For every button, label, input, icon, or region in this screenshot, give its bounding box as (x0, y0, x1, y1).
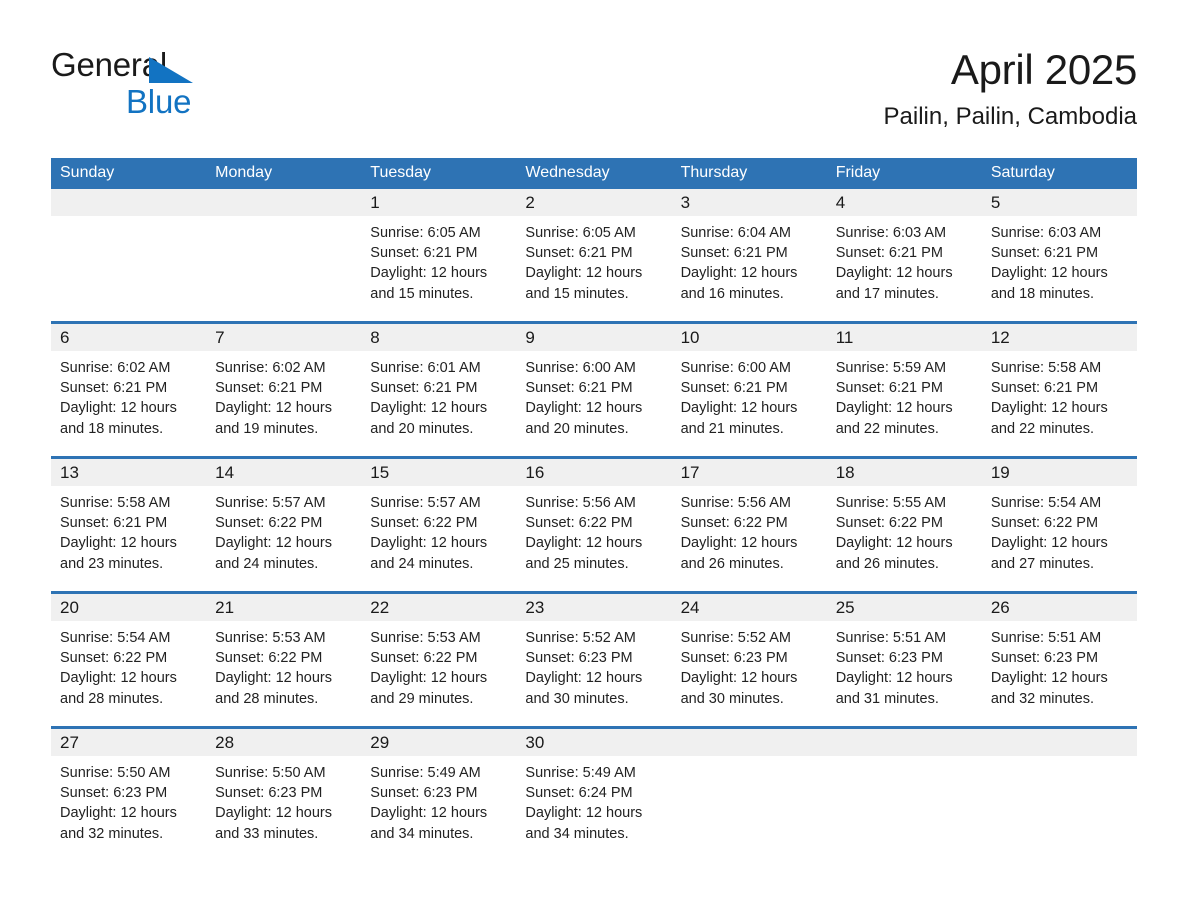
day-number (51, 189, 206, 216)
day-number: 22 (361, 594, 516, 621)
logo-text-blue: Blue (126, 85, 251, 118)
day-details: Sunrise: 5:56 AM Sunset: 6:22 PM Dayligh… (672, 486, 827, 574)
day-details: Sunrise: 6:02 AM Sunset: 6:21 PM Dayligh… (206, 351, 361, 439)
day-details: Sunrise: 5:57 AM Sunset: 6:22 PM Dayligh… (361, 486, 516, 574)
day-number: 17 (672, 459, 827, 486)
day-number: 19 (982, 459, 1137, 486)
day-number: 5 (982, 189, 1137, 216)
day-details (982, 756, 1137, 763)
day-cell[interactable]: 28Sunrise: 5:50 AM Sunset: 6:23 PM Dayli… (206, 728, 361, 862)
day-cell[interactable]: 15Sunrise: 5:57 AM Sunset: 6:22 PM Dayli… (361, 458, 516, 593)
day-details: Sunrise: 5:49 AM Sunset: 6:24 PM Dayligh… (516, 756, 671, 844)
day-details: Sunrise: 6:05 AM Sunset: 6:21 PM Dayligh… (516, 216, 671, 304)
day-details: Sunrise: 5:58 AM Sunset: 6:21 PM Dayligh… (982, 351, 1137, 439)
page-title: April 2025 (884, 44, 1137, 96)
day-cell[interactable]: 18Sunrise: 5:55 AM Sunset: 6:22 PM Dayli… (827, 458, 982, 593)
weekday-header-saturday: Saturday (982, 158, 1137, 189)
day-cell[interactable]: 8Sunrise: 6:01 AM Sunset: 6:21 PM Daylig… (361, 323, 516, 458)
calendar-week-row: 27Sunrise: 5:50 AM Sunset: 6:23 PM Dayli… (51, 728, 1137, 862)
day-number: 28 (206, 729, 361, 756)
weekday-header-thursday: Thursday (672, 158, 827, 189)
day-details: Sunrise: 6:01 AM Sunset: 6:21 PM Dayligh… (361, 351, 516, 439)
day-cell[interactable]: 29Sunrise: 5:49 AM Sunset: 6:23 PM Dayli… (361, 728, 516, 862)
day-details (827, 756, 982, 763)
day-details: Sunrise: 6:00 AM Sunset: 6:21 PM Dayligh… (516, 351, 671, 439)
day-cell[interactable]: 1Sunrise: 6:05 AM Sunset: 6:21 PM Daylig… (361, 189, 516, 323)
calendar-body: 1Sunrise: 6:05 AM Sunset: 6:21 PM Daylig… (51, 189, 1137, 861)
day-details: Sunrise: 6:03 AM Sunset: 6:21 PM Dayligh… (982, 216, 1137, 304)
day-cell[interactable]: 13Sunrise: 5:58 AM Sunset: 6:21 PM Dayli… (51, 458, 206, 593)
day-details: Sunrise: 5:50 AM Sunset: 6:23 PM Dayligh… (51, 756, 206, 844)
page-header: General Blue April 2025 Pailin, Pailin, … (51, 44, 1137, 148)
day-number: 27 (51, 729, 206, 756)
day-number: 9 (516, 324, 671, 351)
day-details: Sunrise: 5:50 AM Sunset: 6:23 PM Dayligh… (206, 756, 361, 844)
day-cell[interactable]: 12Sunrise: 5:58 AM Sunset: 6:21 PM Dayli… (982, 323, 1137, 458)
generalblue-logo[interactable]: General Blue (51, 48, 251, 128)
day-details: Sunrise: 6:05 AM Sunset: 6:21 PM Dayligh… (361, 216, 516, 304)
calendar-week-row: 20Sunrise: 5:54 AM Sunset: 6:22 PM Dayli… (51, 593, 1137, 728)
day-cell[interactable] (672, 728, 827, 862)
day-cell[interactable]: 14Sunrise: 5:57 AM Sunset: 6:22 PM Dayli… (206, 458, 361, 593)
day-details: Sunrise: 6:02 AM Sunset: 6:21 PM Dayligh… (51, 351, 206, 439)
calendar-page: General Blue April 2025 Pailin, Pailin, … (0, 0, 1188, 918)
day-details (51, 216, 206, 223)
day-details: Sunrise: 5:56 AM Sunset: 6:22 PM Dayligh… (516, 486, 671, 574)
day-number: 18 (827, 459, 982, 486)
day-number: 23 (516, 594, 671, 621)
day-number: 10 (672, 324, 827, 351)
day-cell[interactable] (982, 728, 1137, 862)
day-number: 26 (982, 594, 1137, 621)
day-details (672, 756, 827, 763)
day-number: 24 (672, 594, 827, 621)
day-number: 14 (206, 459, 361, 486)
day-details: Sunrise: 5:59 AM Sunset: 6:21 PM Dayligh… (827, 351, 982, 439)
day-cell[interactable]: 21Sunrise: 5:53 AM Sunset: 6:22 PM Dayli… (206, 593, 361, 728)
weekday-header-friday: Friday (827, 158, 982, 189)
day-details: Sunrise: 5:51 AM Sunset: 6:23 PM Dayligh… (827, 621, 982, 709)
day-cell[interactable]: 27Sunrise: 5:50 AM Sunset: 6:23 PM Dayli… (51, 728, 206, 862)
day-cell[interactable]: 10Sunrise: 6:00 AM Sunset: 6:21 PM Dayli… (672, 323, 827, 458)
day-details: Sunrise: 5:54 AM Sunset: 6:22 PM Dayligh… (982, 486, 1137, 574)
day-cell[interactable] (827, 728, 982, 862)
day-cell[interactable]: 4Sunrise: 6:03 AM Sunset: 6:21 PM Daylig… (827, 189, 982, 323)
day-number (982, 729, 1137, 756)
day-cell[interactable]: 16Sunrise: 5:56 AM Sunset: 6:22 PM Dayli… (516, 458, 671, 593)
day-cell[interactable]: 7Sunrise: 6:02 AM Sunset: 6:21 PM Daylig… (206, 323, 361, 458)
day-number: 20 (51, 594, 206, 621)
day-number: 2 (516, 189, 671, 216)
calendar-week-row: 13Sunrise: 5:58 AM Sunset: 6:21 PM Dayli… (51, 458, 1137, 593)
day-number: 1 (361, 189, 516, 216)
weekday-header-wednesday: Wednesday (516, 158, 671, 189)
day-details: Sunrise: 5:57 AM Sunset: 6:22 PM Dayligh… (206, 486, 361, 574)
day-details: Sunrise: 6:03 AM Sunset: 6:21 PM Dayligh… (827, 216, 982, 304)
day-number: 4 (827, 189, 982, 216)
day-number: 30 (516, 729, 671, 756)
day-cell[interactable]: 22Sunrise: 5:53 AM Sunset: 6:22 PM Dayli… (361, 593, 516, 728)
title-block: April 2025 Pailin, Pailin, Cambodia (884, 44, 1137, 134)
logo-triangle-icon (149, 57, 193, 83)
day-cell[interactable]: 26Sunrise: 5:51 AM Sunset: 6:23 PM Dayli… (982, 593, 1137, 728)
day-cell[interactable]: 11Sunrise: 5:59 AM Sunset: 6:21 PM Dayli… (827, 323, 982, 458)
day-number: 6 (51, 324, 206, 351)
day-details: Sunrise: 5:58 AM Sunset: 6:21 PM Dayligh… (51, 486, 206, 574)
day-number: 15 (361, 459, 516, 486)
calendar-table: Sunday Monday Tuesday Wednesday Thursday… (51, 158, 1137, 861)
calendar-week-row: 1Sunrise: 6:05 AM Sunset: 6:21 PM Daylig… (51, 189, 1137, 323)
day-cell[interactable]: 17Sunrise: 5:56 AM Sunset: 6:22 PM Dayli… (672, 458, 827, 593)
day-number: 7 (206, 324, 361, 351)
weekday-header-monday: Monday (206, 158, 361, 189)
day-details: Sunrise: 5:54 AM Sunset: 6:22 PM Dayligh… (51, 621, 206, 709)
day-number: 13 (51, 459, 206, 486)
calendar-header-row: Sunday Monday Tuesday Wednesday Thursday… (51, 158, 1137, 189)
day-cell[interactable]: 24Sunrise: 5:52 AM Sunset: 6:23 PM Dayli… (672, 593, 827, 728)
day-cell[interactable]: 5Sunrise: 6:03 AM Sunset: 6:21 PM Daylig… (982, 189, 1137, 323)
day-cell[interactable]: 19Sunrise: 5:54 AM Sunset: 6:22 PM Dayli… (982, 458, 1137, 593)
day-cell[interactable] (206, 189, 361, 323)
day-details: Sunrise: 6:00 AM Sunset: 6:21 PM Dayligh… (672, 351, 827, 439)
day-details: Sunrise: 5:53 AM Sunset: 6:22 PM Dayligh… (206, 621, 361, 709)
day-cell[interactable] (51, 189, 206, 323)
day-number: 8 (361, 324, 516, 351)
day-cell[interactable]: 6Sunrise: 6:02 AM Sunset: 6:21 PM Daylig… (51, 323, 206, 458)
day-number: 29 (361, 729, 516, 756)
day-number (827, 729, 982, 756)
day-cell[interactable]: 9Sunrise: 6:00 AM Sunset: 6:21 PM Daylig… (516, 323, 671, 458)
location-subtitle: Pailin, Pailin, Cambodia (884, 100, 1137, 134)
day-cell[interactable]: 3Sunrise: 6:04 AM Sunset: 6:21 PM Daylig… (672, 189, 827, 323)
day-number (206, 189, 361, 216)
day-details: Sunrise: 5:55 AM Sunset: 6:22 PM Dayligh… (827, 486, 982, 574)
day-details: Sunrise: 5:52 AM Sunset: 6:23 PM Dayligh… (672, 621, 827, 709)
day-cell[interactable]: 25Sunrise: 5:51 AM Sunset: 6:23 PM Dayli… (827, 593, 982, 728)
day-number: 3 (672, 189, 827, 216)
day-number: 25 (827, 594, 982, 621)
weekday-header-sunday: Sunday (51, 158, 206, 189)
day-number: 21 (206, 594, 361, 621)
day-cell[interactable]: 30Sunrise: 5:49 AM Sunset: 6:24 PM Dayli… (516, 728, 671, 862)
day-number (672, 729, 827, 756)
day-cell[interactable]: 20Sunrise: 5:54 AM Sunset: 6:22 PM Dayli… (51, 593, 206, 728)
day-details: Sunrise: 5:49 AM Sunset: 6:23 PM Dayligh… (361, 756, 516, 844)
day-number: 12 (982, 324, 1137, 351)
day-details: Sunrise: 5:51 AM Sunset: 6:23 PM Dayligh… (982, 621, 1137, 709)
calendar-week-row: 6Sunrise: 6:02 AM Sunset: 6:21 PM Daylig… (51, 323, 1137, 458)
day-details (206, 216, 361, 223)
day-details: Sunrise: 5:53 AM Sunset: 6:22 PM Dayligh… (361, 621, 516, 709)
day-details: Sunrise: 6:04 AM Sunset: 6:21 PM Dayligh… (672, 216, 827, 304)
day-cell[interactable]: 23Sunrise: 5:52 AM Sunset: 6:23 PM Dayli… (516, 593, 671, 728)
day-number: 11 (827, 324, 982, 351)
weekday-header-tuesday: Tuesday (361, 158, 516, 189)
day-details: Sunrise: 5:52 AM Sunset: 6:23 PM Dayligh… (516, 621, 671, 709)
day-cell[interactable]: 2Sunrise: 6:05 AM Sunset: 6:21 PM Daylig… (516, 189, 671, 323)
day-number: 16 (516, 459, 671, 486)
